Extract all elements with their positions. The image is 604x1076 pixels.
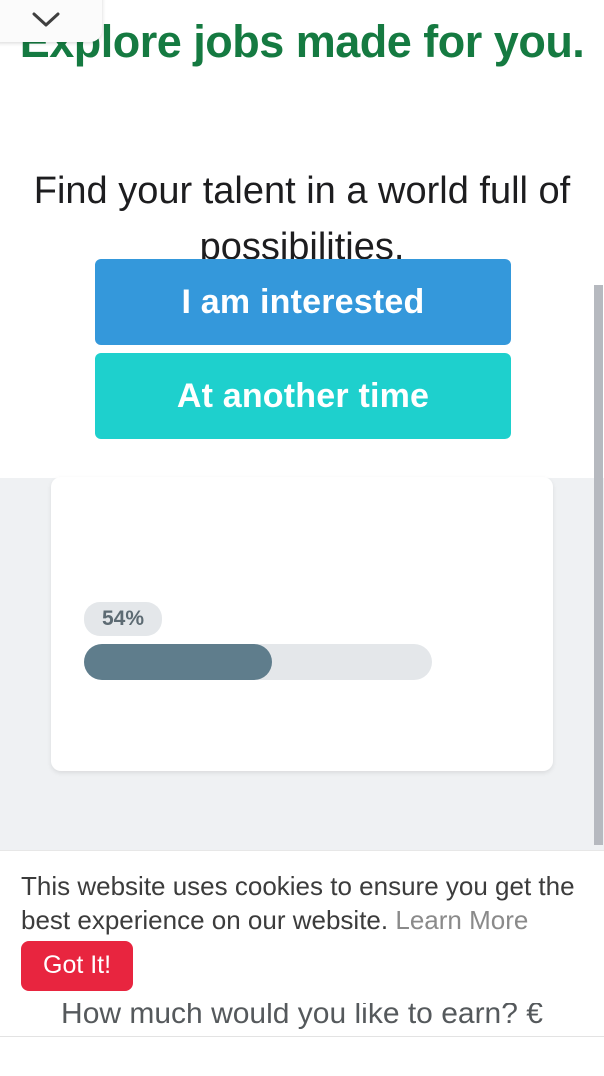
at-another-time-button[interactable]: At another time xyxy=(95,353,511,439)
chevron-down-icon[interactable] xyxy=(32,12,60,28)
collapse-panel[interactable] xyxy=(0,0,102,42)
i-am-interested-button[interactable]: I am interested xyxy=(95,259,511,345)
cookie-accept-button[interactable]: Got It! xyxy=(21,941,133,991)
progress-bar-fill xyxy=(84,644,272,680)
mobile-browser-screen: Explore jobs made for you. Find your tal… xyxy=(0,0,604,1076)
cookie-learn-more-link[interactable]: Learn More xyxy=(395,905,528,935)
scrollbar-thumb[interactable] xyxy=(594,285,603,845)
cta-button-group: I am interested At another time xyxy=(95,259,511,439)
cookie-consent-banner: This website uses cookies to ensure you … xyxy=(0,850,604,1003)
progress-bar-track xyxy=(84,644,432,680)
survey-card: 54% xyxy=(51,477,553,771)
bottom-panel xyxy=(0,1036,604,1076)
progress-section: 54% xyxy=(84,602,432,680)
progress-percent-badge: 54% xyxy=(84,602,162,636)
cookie-message: This website uses cookies to ensure you … xyxy=(21,869,575,937)
